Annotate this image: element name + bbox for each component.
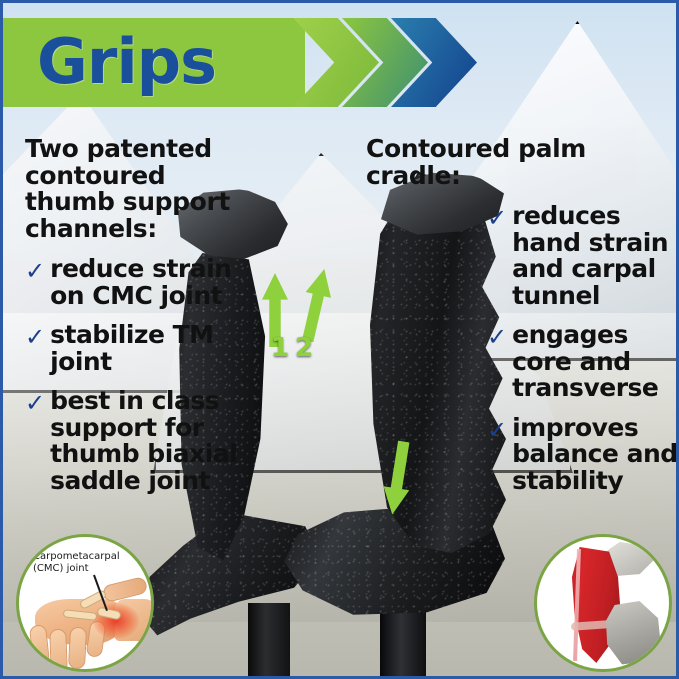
- grips-infographic: Grips 1 2 Two patented contoured thumb s…: [0, 0, 679, 679]
- checkmark-icon: ✓: [25, 325, 45, 349]
- checkmark-icon: ✓: [487, 325, 507, 349]
- core-muscle-inset: [534, 534, 672, 672]
- list-item: ✓ engages core and transverse: [487, 322, 679, 402]
- channel-marker-2-label: 2: [295, 333, 313, 363]
- list-item-label: improves balance and stability: [512, 415, 679, 495]
- hand-finger: [68, 627, 87, 670]
- channel-marker-1-label: 1: [271, 333, 289, 363]
- cmc-joint-label: Carpometacarpal (CMC) joint: [33, 551, 120, 575]
- list-item-label: best in class support for thumb biaxial …: [50, 388, 257, 494]
- left-bullet-list: ✓ reduce strain on CMC joint ✓ stabilize…: [25, 256, 257, 494]
- right-text-column: Contoured palm cradle: ✓ reduces hand st…: [366, 136, 679, 507]
- list-item: ✓ best in class support for thumb biaxia…: [25, 388, 257, 494]
- list-item: ✓ reduce strain on CMC joint: [25, 256, 257, 309]
- right-column-heading: Contoured palm cradle:: [366, 136, 679, 189]
- right-bullet-list: ✓ reduces hand strain and carpal tunnel …: [487, 203, 679, 494]
- cmc-label-line-2: (CMC) joint: [33, 563, 120, 575]
- list-item-label: reduce strain on CMC joint: [50, 256, 257, 309]
- cmc-joint-inset: Carpometacarpal (CMC) joint: [16, 534, 154, 672]
- cmc-label-line-1: Carpometacarpal: [33, 551, 120, 563]
- hand-finger: [49, 629, 68, 672]
- list-item-label: engages core and transverse: [512, 322, 679, 402]
- left-text-column: Two patented contoured thumb support cha…: [25, 136, 257, 507]
- list-item-label: stabilize TM joint: [50, 322, 257, 375]
- list-item: ✓ stabilize TM joint: [25, 322, 257, 375]
- checkmark-icon: ✓: [487, 418, 507, 442]
- checkmark-icon: ✓: [25, 259, 45, 283]
- list-item: ✓ reduces hand strain and carpal tunnel: [487, 203, 679, 309]
- list-item-label: reduces hand strain and carpal tunnel: [512, 203, 679, 309]
- checkmark-icon: ✓: [487, 206, 507, 230]
- checkmark-icon: ✓: [25, 391, 45, 415]
- pole-shaft-left: [248, 603, 290, 679]
- left-column-heading: Two patented contoured thumb support cha…: [25, 136, 257, 242]
- list-item: ✓ improves balance and stability: [487, 415, 679, 495]
